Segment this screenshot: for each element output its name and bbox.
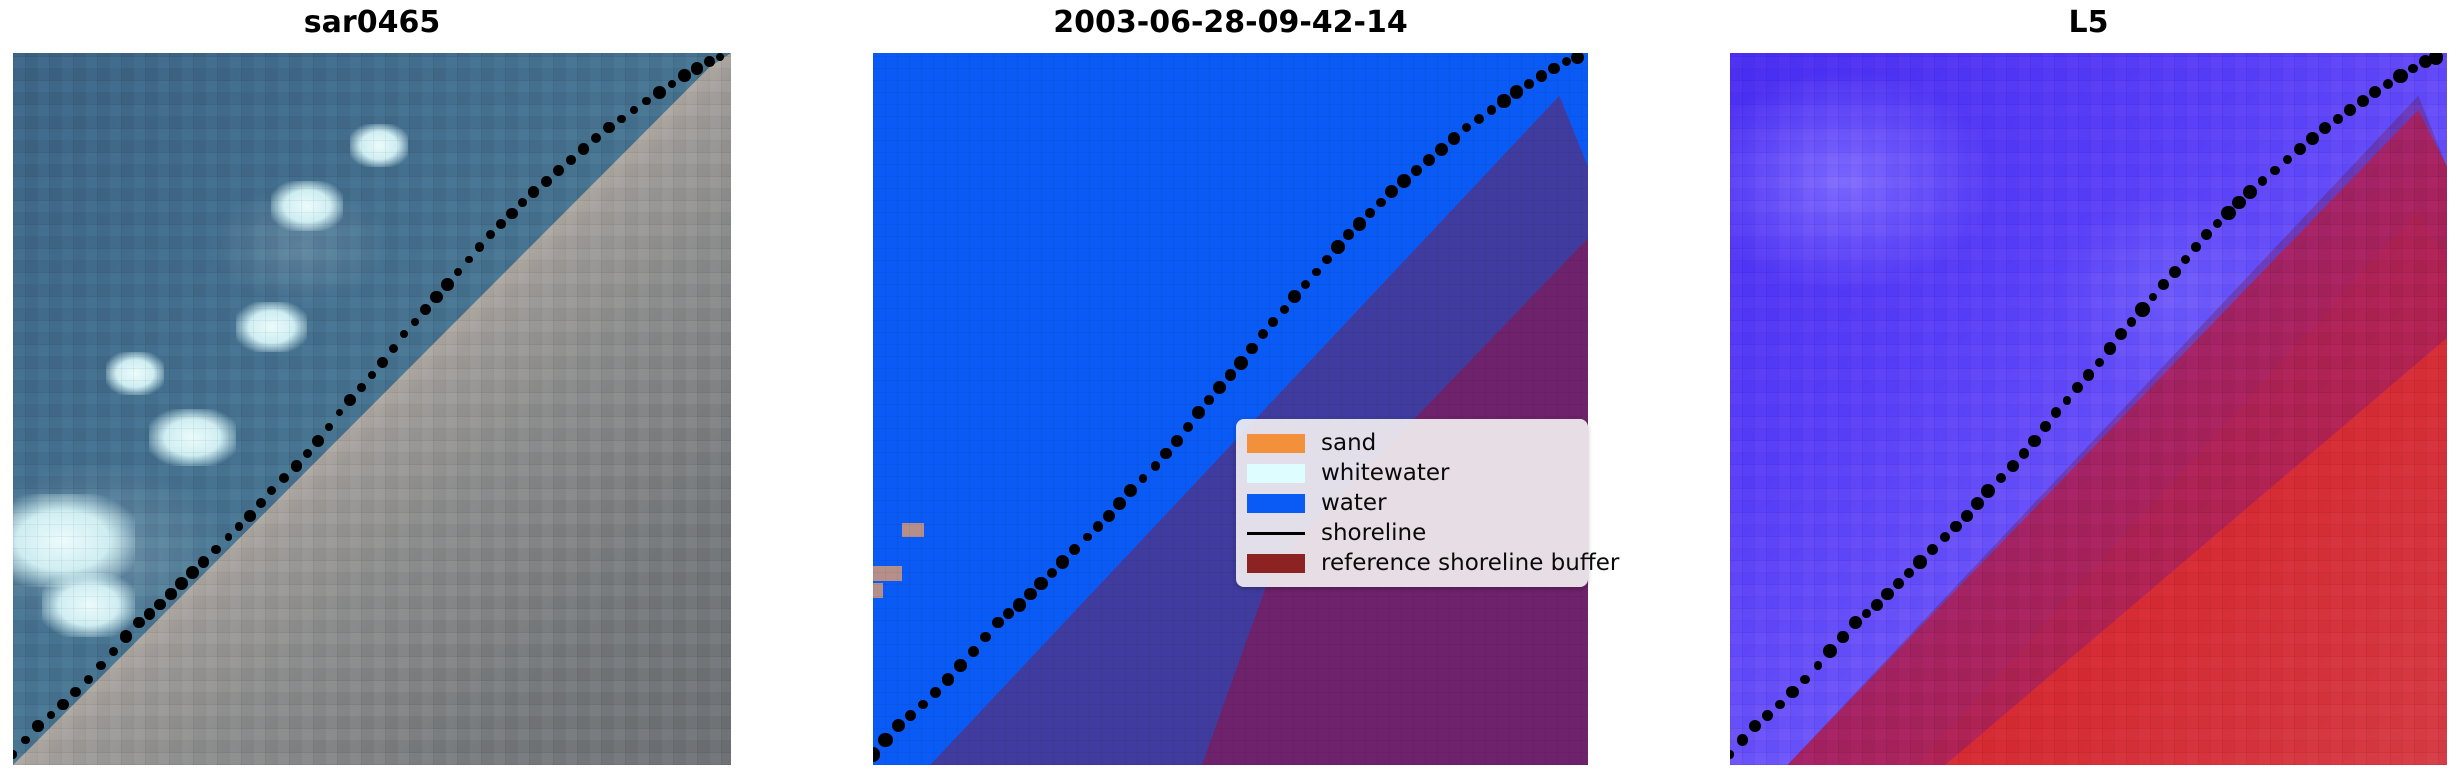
shoreline-dot (905, 710, 916, 721)
shoreline-dot (1288, 290, 1301, 303)
shoreline-dot (1322, 255, 1332, 265)
shoreline-dot (235, 522, 244, 531)
shoreline-dot (120, 630, 133, 643)
shoreline-dot (591, 133, 601, 143)
shoreline-dot (1571, 53, 1584, 64)
shoreline-dot (1024, 588, 1037, 601)
shoreline-dot (892, 719, 905, 732)
shoreline-dot (968, 646, 979, 657)
shoreline-dot (1124, 484, 1137, 497)
shoreline-dot (541, 176, 552, 187)
shoreline-dot (2169, 266, 2181, 278)
shoreline-dot (2344, 104, 2356, 116)
shoreline-dot (165, 588, 176, 599)
shoreline-dot (1246, 343, 1257, 354)
shoreline-dot (873, 747, 880, 762)
shoreline-dot (2270, 166, 2280, 176)
shoreline-dot (291, 460, 302, 471)
shoreline-dot (1448, 132, 1460, 144)
shoreline-dot (84, 675, 93, 684)
shoreline-dot (1893, 578, 1904, 589)
shoreline-dot (279, 473, 289, 483)
shoreline-dot (2333, 114, 2343, 124)
shoreline-dot (1474, 114, 1484, 124)
shoreline-dot (1093, 521, 1103, 531)
shoreline-dot (144, 608, 156, 620)
shoreline-dot (2258, 176, 2267, 185)
legend-item-sand: sand (1247, 428, 1576, 458)
shoreline-dot (441, 278, 454, 291)
shoreline-dot (244, 510, 256, 522)
shoreline-dot (954, 659, 966, 671)
shoreline-dotted-line (873, 53, 1588, 765)
shoreline-dot (1536, 70, 1548, 82)
shoreline-dot (211, 545, 221, 555)
shoreline-dot (1487, 105, 1497, 115)
shoreline-dot (357, 383, 366, 392)
shoreline-dot (2369, 86, 2381, 98)
panel-classification-title: 2003-06-28-09-42-14 (873, 8, 1588, 38)
shoreline-dot (518, 198, 527, 207)
shoreline-dot (2083, 369, 2095, 381)
shoreline-dot (1497, 94, 1510, 107)
shoreline-dot (2007, 460, 2019, 472)
shoreline-dot (1927, 544, 1939, 556)
shoreline-dot (506, 208, 517, 219)
shoreline-dot (578, 143, 589, 154)
shoreline-dot (1411, 165, 1422, 176)
shoreline-dot (2158, 279, 2169, 290)
legend-swatch-reference-shoreline-buffer (1247, 554, 1305, 573)
shoreline-dot (1047, 568, 1057, 578)
shoreline-dot (980, 632, 991, 643)
shoreline-dot (21, 736, 29, 744)
shoreline-dot (1524, 79, 1533, 88)
shoreline-dot (2095, 358, 2104, 367)
shoreline-dot (1849, 616, 1863, 630)
shoreline-dot (256, 498, 266, 508)
shoreline-dot (553, 165, 564, 176)
shoreline-dot (2232, 196, 2245, 209)
legend-item-water: water (1247, 488, 1576, 518)
shoreline-dot (1204, 395, 1213, 404)
shoreline-dot (1069, 544, 1080, 555)
shoreline-dot (1034, 577, 1048, 591)
shoreline-dot (1385, 185, 1398, 198)
shoreline-dot (389, 344, 398, 353)
shoreline-dot (1013, 598, 1027, 612)
shoreline-dot (2072, 382, 2083, 393)
shoreline-dot (2357, 95, 2369, 107)
shoreline-dot (1971, 497, 1985, 511)
shoreline-dot (1183, 422, 1193, 432)
shoreline-dot (2283, 155, 2292, 164)
shoreline-dot (1151, 461, 1160, 470)
shoreline-dot (1312, 268, 1321, 277)
shoreline-dot (1423, 154, 1435, 166)
shoreline-dot (668, 80, 676, 88)
shoreline-dot (175, 577, 188, 590)
legend: sand whitewater water shoreline referenc… (1236, 419, 1588, 587)
shoreline-dot (2393, 69, 2407, 83)
shoreline-dot (475, 242, 485, 252)
figure-canvas: sar0465 2003-06-28-09-42-14 L5 (0, 0, 2460, 783)
shoreline-dotted-line (13, 53, 731, 765)
shoreline-dot (2306, 132, 2319, 145)
shoreline-dot (70, 687, 81, 698)
shoreline-dot (603, 122, 614, 133)
legend-swatch-water (1247, 494, 1305, 513)
shoreline-dot (1301, 280, 1311, 290)
shoreline-dot (2294, 143, 2306, 155)
legend-label-reference-shoreline-buffer: reference shoreline buffer (1321, 552, 1619, 575)
shoreline-dot (1462, 123, 1471, 132)
shoreline-dot (1003, 608, 1014, 619)
shoreline-dot (704, 56, 714, 66)
shoreline-dot (1225, 369, 1237, 381)
shoreline-dot (1353, 217, 1366, 230)
legend-swatch-shoreline (1247, 532, 1305, 535)
shoreline-dot (400, 330, 408, 338)
shoreline-dot (930, 687, 941, 698)
shoreline-dot (198, 556, 209, 567)
shoreline-dot (2135, 302, 2150, 317)
shoreline-dot (691, 62, 703, 74)
shoreline-dot (154, 599, 165, 610)
shoreline-dot (377, 357, 388, 368)
shoreline-dot (1268, 317, 1278, 327)
shoreline-dot (566, 155, 576, 165)
shoreline-dot (411, 318, 419, 326)
shoreline-dot (1365, 208, 1374, 217)
shoreline-dot (1435, 143, 1448, 156)
shoreline-dot (1775, 700, 1784, 709)
shoreline-dot (1234, 356, 1248, 370)
shoreline-dot (109, 647, 118, 656)
shoreline-dot (57, 699, 69, 711)
shoreline-dot (454, 268, 462, 276)
shoreline-dot (2115, 328, 2127, 340)
panel-index-title: L5 (1730, 8, 2447, 38)
shoreline-dot (1331, 240, 1345, 254)
shoreline-dot (1737, 734, 1748, 745)
shoreline-dot (1113, 497, 1126, 510)
shoreline-dot (1996, 473, 2006, 483)
panel-index-image (1730, 53, 2447, 765)
shoreline-dot (2429, 53, 2443, 65)
shoreline-dot (1397, 174, 1411, 188)
shoreline-dot (1904, 568, 1914, 578)
shoreline-dot (1376, 198, 1386, 208)
shoreline-dot (1213, 381, 1226, 394)
shoreline-dot (1762, 710, 1773, 721)
shoreline-dot (1950, 521, 1962, 533)
shoreline-dot (486, 230, 495, 239)
shoreline-dot (1083, 533, 1092, 542)
shoreline-dot (1881, 588, 1894, 601)
shoreline-dot (2051, 407, 2061, 417)
panel-classification-image (873, 53, 1588, 765)
shoreline-dot (368, 371, 376, 379)
shoreline-dot (1940, 532, 1950, 542)
legend-label-water: water (1321, 492, 1387, 515)
shoreline-dot (878, 733, 892, 747)
shoreline-dot (2408, 64, 2417, 73)
shoreline-dot (465, 256, 473, 264)
shoreline-dot (1258, 329, 1268, 339)
shoreline-dot (2149, 293, 2157, 301)
shoreline-dot (1871, 599, 1883, 611)
shoreline-dot (653, 86, 666, 99)
shoreline-dot (630, 106, 638, 114)
shoreline-dotted-line (1730, 53, 2447, 765)
legend-swatch-sand (1247, 434, 1305, 453)
shoreline-dot (678, 69, 691, 82)
shoreline-dot (344, 394, 356, 406)
shoreline-dot (918, 700, 928, 710)
shoreline-dot (1730, 750, 1734, 759)
shoreline-dot (1056, 555, 1070, 569)
shoreline-dot (2040, 421, 2051, 432)
shoreline-dot (1510, 85, 1524, 99)
shoreline-dot (336, 409, 344, 417)
shoreline-dot (2243, 185, 2257, 199)
shoreline-dot (2383, 79, 2393, 89)
shoreline-dot (496, 219, 506, 229)
legend-label-shoreline: shoreline (1321, 522, 1426, 545)
shoreline-dot (267, 486, 276, 495)
shoreline-dot (2213, 219, 2222, 228)
shoreline-dot (1913, 555, 1926, 568)
legend-swatch-whitewater (1247, 464, 1305, 483)
shoreline-dot (2201, 229, 2212, 240)
shoreline-dot (642, 97, 650, 105)
shoreline-dot (2028, 435, 2041, 448)
shoreline-dot (1280, 305, 1289, 314)
shoreline-dot (1862, 609, 1871, 618)
shoreline-dot (96, 661, 105, 670)
shoreline-dot (1160, 448, 1172, 460)
shoreline-dot (1981, 484, 1995, 498)
shoreline-dot (716, 53, 724, 61)
shoreline-dot (2063, 396, 2072, 405)
shoreline-dot (992, 617, 1004, 629)
shoreline-dot (2221, 206, 2236, 221)
shoreline-dot (2319, 122, 2331, 134)
shoreline-dot (430, 291, 442, 303)
shoreline-dot (312, 435, 325, 448)
shoreline-dot (2019, 448, 2030, 459)
legend-item-whitewater: whitewater (1247, 458, 1576, 488)
shoreline-dot (2127, 317, 2137, 327)
shoreline-dot (225, 533, 233, 541)
shoreline-dot (133, 617, 145, 629)
shoreline-dot (47, 711, 55, 719)
shoreline-dot (942, 673, 954, 685)
legend-item-shoreline: shoreline (1247, 518, 1576, 548)
shoreline-dot (1343, 229, 1353, 239)
shoreline-dot (1837, 631, 1848, 642)
shoreline-dot (1961, 510, 1973, 522)
shoreline-dot (325, 423, 333, 431)
shoreline-dot (1823, 644, 1837, 658)
panel-rgb-title: sar0465 (13, 8, 731, 38)
shoreline-dot (13, 750, 17, 759)
shoreline-dot (1800, 675, 1810, 685)
shoreline-dot (1749, 720, 1762, 733)
legend-label-whitewater: whitewater (1321, 462, 1449, 485)
shoreline-dot (1548, 63, 1560, 75)
legend-label-sand: sand (1321, 432, 1376, 455)
shoreline-dot (1139, 474, 1147, 482)
shoreline-dot (2104, 342, 2116, 354)
shoreline-dot (1562, 57, 1571, 66)
shoreline-dot (186, 566, 199, 579)
shoreline-dot (1103, 510, 1115, 522)
shoreline-dot (420, 304, 431, 315)
shoreline-dot (303, 449, 312, 458)
shoreline-dot (528, 186, 540, 198)
shoreline-dot (32, 720, 44, 732)
shoreline-dot (1786, 686, 1799, 699)
shoreline-dot (1171, 435, 1183, 447)
shoreline-dot (617, 115, 626, 124)
shoreline-dot (1814, 661, 1823, 670)
legend-item-reference-shoreline-buffer: reference shoreline buffer (1247, 548, 1576, 578)
shoreline-dot (2181, 255, 2191, 265)
shoreline-dot (2191, 242, 2201, 252)
shoreline-dot (1192, 406, 1204, 418)
panel-rgb-image (13, 53, 731, 765)
